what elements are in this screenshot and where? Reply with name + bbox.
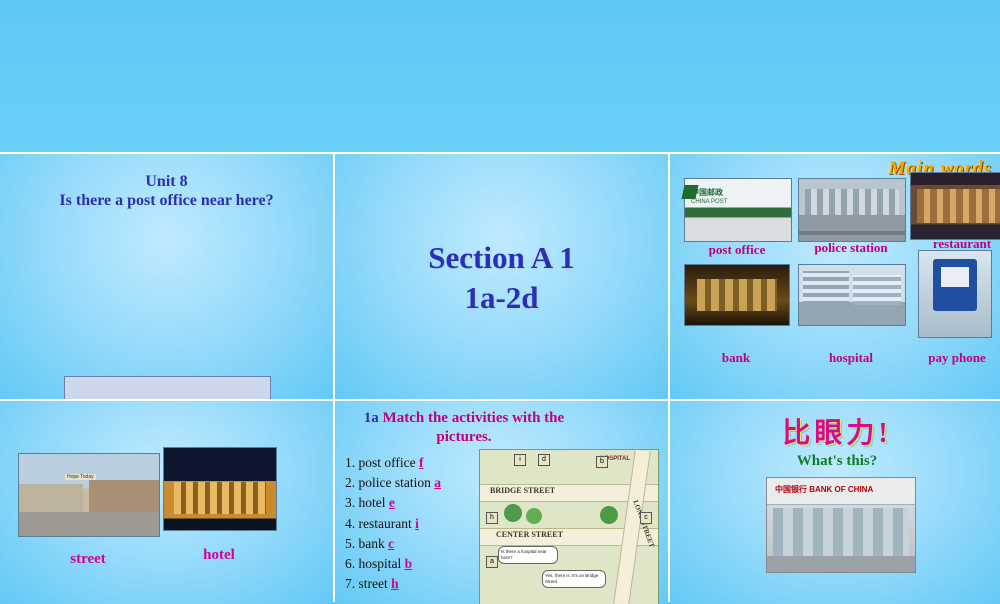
slide1-title: Unit 8 Is there a post office near here? — [0, 172, 333, 210]
item-label: post office — [359, 455, 416, 470]
item-label: police station — [359, 475, 431, 490]
slide-6[interactable]: 比眼力! What's this? 中国银行 BANK OF CHINA — [670, 401, 1000, 604]
slide1-title-line1: Unit 8 — [0, 172, 333, 191]
slide6-title: 比眼力! — [670, 411, 1000, 451]
list-item: 6. hospital b — [345, 554, 495, 574]
tree-icon — [526, 508, 542, 524]
slide2-title-line1: Section A 1 — [335, 238, 668, 278]
item-label: hotel — [359, 495, 386, 510]
slide5-heading: 1a Match the activities with the picture… — [349, 409, 579, 447]
item-answer: e — [389, 495, 395, 510]
item-answer: c — [388, 536, 394, 551]
map-marker: i — [514, 454, 526, 466]
activity-map-image: BRIDGE STREET CENTER STREET LONG STREET … — [479, 449, 659, 604]
list-item: 5. bank c — [345, 534, 495, 554]
photo-caption: hotel — [163, 547, 275, 564]
map-marker: c — [640, 512, 652, 524]
item-number: 1. — [345, 455, 355, 470]
item-number: 5. — [345, 536, 355, 551]
match-list: 1. post office f 2. police station a 3. … — [345, 453, 495, 594]
pay-phone-photo — [918, 250, 992, 338]
item-answer: f — [419, 455, 424, 470]
post-logo-sub: CHINA POST — [691, 199, 727, 205]
restaurant-photo — [910, 172, 1000, 240]
item-answer: h — [391, 576, 399, 591]
slide-4[interactable]: Hope Today street hotel — [0, 401, 333, 604]
photo-caption: post office — [684, 242, 790, 258]
slide2-title: Section A 1 1a-2d — [335, 238, 668, 318]
tree-icon — [504, 504, 522, 522]
activity-instruction: Match the activities with the pictures. — [383, 410, 565, 445]
slide-grid: Unit 8 Is there a post office near here?… — [0, 152, 1000, 602]
item-answer: a — [434, 475, 441, 490]
post-office-photo: 中国邮政 CHINA POST — [684, 178, 792, 242]
slide1-title-line2: Is there a post office near here? — [0, 191, 333, 210]
speech-bubble: Is there a hospital near here? — [498, 546, 558, 564]
map-marker: d — [538, 454, 550, 466]
photo-caption: hospital — [798, 350, 904, 366]
item-number: 7. — [345, 576, 355, 591]
hotel-photo — [163, 447, 277, 531]
item-number: 3. — [345, 495, 355, 510]
list-item: 4. restaurant i — [345, 514, 495, 534]
list-item: 7. street h — [345, 574, 495, 594]
post-horn-icon — [682, 185, 699, 199]
street-label: CENTER STREET — [496, 530, 563, 539]
list-item: 1. post office f — [345, 453, 495, 473]
item-answer: i — [415, 516, 419, 531]
speech-bubble: Yes, there is. It's on Bridge Street. — [542, 570, 606, 588]
slide6-subtitle: What's this? — [670, 453, 1000, 470]
item-label: restaurant — [359, 516, 412, 531]
tree-icon — [600, 506, 618, 524]
police-station-photo — [798, 178, 906, 242]
slide2-title-line2: 1a-2d — [335, 278, 668, 318]
item-number: 2. — [345, 475, 355, 490]
map-marker: b — [596, 456, 608, 468]
slide-2[interactable]: Section A 1 1a-2d — [335, 154, 668, 399]
item-answer: b — [405, 556, 413, 571]
list-item: 3. hotel e — [345, 493, 495, 513]
hospital-photo — [798, 264, 906, 326]
bank-of-china-photo: 中国银行 BANK OF CHINA — [766, 477, 916, 573]
street-label: BRIDGE STREET — [490, 486, 555, 495]
map-marker: a — [486, 556, 498, 568]
item-label: street — [359, 576, 388, 591]
item-number: 4. — [345, 516, 355, 531]
photo-caption: police station — [798, 240, 904, 256]
photo-caption: street — [18, 551, 158, 568]
item-number: 6. — [345, 556, 355, 571]
map-marker: h — [486, 512, 498, 524]
list-item: 2. police station a — [345, 473, 495, 493]
item-label: bank — [359, 536, 385, 551]
activity-number: 1a — [364, 410, 379, 426]
slide-5[interactable]: 1a Match the activities with the picture… — [335, 401, 668, 604]
photo-caption: pay phone — [910, 350, 1000, 366]
bank-photo — [684, 264, 790, 326]
bank-sign-text: 中国银行 BANK OF CHINA — [775, 484, 873, 495]
item-label: hospital — [359, 556, 402, 571]
photo-caption: bank — [684, 350, 788, 366]
slide-3[interactable]: Main words 中国邮政 CHINA POST post office p… — [670, 154, 1000, 399]
street-photo: Hope Today — [18, 453, 160, 537]
slide1-street-map-image: Second Avenue School Hotel Restaurant Bu… — [64, 376, 271, 399]
slide-1[interactable]: Unit 8 Is there a post office near here?… — [0, 154, 333, 399]
